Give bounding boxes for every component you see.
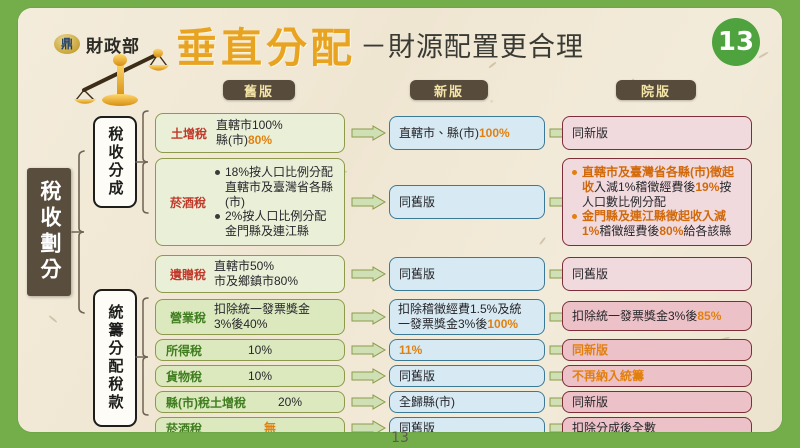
row-7-tax-label: 縣(市)稅土增稅 bbox=[162, 394, 278, 411]
row-2-old-bullets: 18%按人口比例分配直轄市及臺灣省各縣(市) 2%按人口比例分配金門縣及連江縣 bbox=[214, 165, 338, 238]
row-4-new-box: 扣除稽徵經費1.5%及統 一發票獎金3%後100% bbox=[389, 299, 545, 335]
footer-page-number: 13 bbox=[0, 430, 800, 446]
row-2-yuan-box: 直轄市及臺灣省各縣(市)徵起收入減1%稽徵經費後19%按人口數比例分配 金門縣及… bbox=[562, 158, 752, 246]
row-4-yuan-box: 扣除統一發票獎金3%後85% bbox=[562, 301, 752, 331]
row-6-yuan-box: 不再納入統籌 bbox=[562, 365, 752, 387]
row-3-yuan-box: 同舊版 bbox=[562, 257, 752, 291]
brace-group-sharing bbox=[134, 109, 154, 217]
row-4-new-text: 扣除稽徵經費1.5%及統 一發票獎金3%後100% bbox=[398, 302, 521, 332]
row-2-tax-label: 菸酒稅 bbox=[162, 194, 214, 211]
row-5-old-value: 10% bbox=[248, 343, 272, 358]
row-4-old-line-2: 3%後40% bbox=[214, 317, 267, 331]
paper-fleck bbox=[758, 51, 769, 58]
row-7-new-box: 全歸縣(市) bbox=[389, 391, 545, 413]
column-header-yuan: 院版 bbox=[616, 80, 696, 100]
row-2-yuan-bullet-2: 金門縣及連江縣徵起收入減1%稽徵經費後80%給各該縣 bbox=[582, 209, 743, 238]
slide-canvas: 鼎 財政部 垂直分配 －財源配置更合理 13 舊版 新版 院版 bbox=[18, 8, 782, 432]
row-2-new-box: 同舊版 bbox=[389, 185, 545, 219]
row-4-arrow-old-to-new bbox=[351, 309, 387, 325]
row-7-new-text: 全歸縣(市) bbox=[399, 395, 455, 410]
title-main: 垂直分配 bbox=[176, 14, 356, 74]
row-5-new-text: 11% bbox=[399, 343, 422, 358]
row-1-old-line-1: 直轄市100% bbox=[216, 118, 283, 132]
group-text: 稅收分成 bbox=[105, 126, 126, 198]
row-5-new-box: 11% bbox=[389, 339, 545, 361]
row-1-new-highlight: 100% bbox=[479, 126, 510, 140]
row-2-new-text: 同舊版 bbox=[399, 195, 435, 210]
title-subtitle: －財源配置更合理 bbox=[360, 25, 584, 64]
brace-group-pooled bbox=[134, 297, 154, 419]
group-label-revenue-sharing: 稅收分成 bbox=[93, 116, 137, 208]
row-2-old-bullet-1: 18%按人口比例分配直轄市及臺灣省各縣(市) bbox=[225, 165, 338, 209]
row-6-new-text: 同舊版 bbox=[399, 369, 435, 384]
paper-fleck bbox=[539, 237, 546, 245]
row-4-old-text: 扣除統一發票獎金 3%後40% bbox=[214, 302, 310, 332]
row-6-old-value: 10% bbox=[248, 369, 272, 384]
row-5-yuan-text: 同新版 bbox=[572, 343, 608, 358]
row-1-yuan-text: 同新版 bbox=[572, 126, 608, 141]
row-4-old-line-1: 扣除統一發票獎金 bbox=[214, 302, 310, 316]
row-2-yuan-bullet-2-head: 金門縣及連江縣徵起收入減1% bbox=[582, 209, 726, 238]
column-header-new: 新版 bbox=[410, 80, 488, 100]
row-3-yuan-text: 同舊版 bbox=[572, 267, 608, 282]
row-4-old-box: 營業稅 扣除統一發票獎金 3%後40% bbox=[155, 299, 345, 335]
row-2-yuan-bullet-2-hl: 80% bbox=[659, 224, 683, 238]
row-4-tax-label: 營業稅 bbox=[162, 309, 214, 326]
row-4-new-highlight: 100% bbox=[487, 317, 518, 331]
row-7-yuan-text: 同新版 bbox=[572, 395, 608, 410]
row-3-new-text: 同舊版 bbox=[399, 267, 435, 282]
row-3-old-line-1: 直轄市50% bbox=[214, 259, 274, 273]
row-4-new-line-1: 扣除稽徵經費1.5%及統 bbox=[398, 302, 521, 316]
page-title: 垂直分配 －財源配置更合理 bbox=[176, 14, 736, 74]
row-1-old-highlight: 80% bbox=[248, 133, 272, 147]
row-2-yuan-bullets: 直轄市及臺灣省各縣(市)徵起收入減1%稽徵經費後19%按人口數比例分配 金門縣及… bbox=[571, 165, 743, 238]
row-2-old-bullet-2: 2%按人口比例分配金門縣及連江縣 bbox=[225, 209, 338, 238]
row-6-new-box: 同舊版 bbox=[389, 365, 545, 387]
brace-spine bbox=[70, 148, 92, 316]
row-7-arrow-old-to-new bbox=[351, 394, 387, 410]
row-5-old-box: 所得稅 10% bbox=[155, 339, 345, 361]
spine-text: 稅收劃分 bbox=[34, 180, 64, 284]
row-3-new-box: 同舊版 bbox=[389, 257, 545, 291]
row-1-new-box: 直轄市、縣(市)100% bbox=[389, 116, 545, 150]
row-4-yuan-highlight: 85% bbox=[697, 309, 721, 323]
row-7-old-box: 縣(市)稅土增稅 20% bbox=[155, 391, 345, 413]
row-2-arrow-old-to-new bbox=[351, 194, 387, 210]
page-badge: 13 bbox=[712, 18, 760, 66]
row-2-yuan-bullet-1-hl: 19% bbox=[695, 180, 719, 194]
row-3-old-text: 直轄市50% 市及鄉鎮市80% bbox=[214, 259, 298, 289]
row-6-tax-label: 貨物稅 bbox=[162, 368, 248, 385]
row-3-old-line-2: 市及鄉鎮市80% bbox=[214, 274, 298, 288]
row-5-arrow-old-to-new bbox=[351, 342, 387, 358]
row-1-yuan-box: 同新版 bbox=[562, 116, 752, 150]
row-6-yuan-text: 不再納入統籌 bbox=[572, 369, 644, 384]
row-3-tax-label: 遺贈稅 bbox=[162, 266, 214, 283]
row-2-yuan-bullet-1: 直轄市及臺灣省各縣(市)徵起收入減1%稽徵經費後19%按人口數比例分配 bbox=[582, 165, 743, 209]
row-4-yuan-text: 扣除統一發票獎金3%後85% bbox=[572, 309, 721, 324]
group-text: 統籌分配稅款 bbox=[105, 304, 126, 412]
row-1-tax-label: 土增稅 bbox=[162, 125, 216, 142]
row-7-yuan-box: 同新版 bbox=[562, 391, 752, 413]
balance-scale-icon bbox=[72, 44, 176, 106]
row-1-new-text: 直轄市、縣(市)100% bbox=[399, 126, 510, 141]
row-1-old-box: 土增稅 直轄市100% 縣(市)80% bbox=[155, 113, 345, 153]
row-5-tax-label: 所得稅 bbox=[162, 342, 248, 359]
row-7-old-value: 20% bbox=[278, 395, 302, 410]
row-3-arrow-old-to-new bbox=[351, 266, 387, 282]
row-1-old-text: 直轄市100% 縣(市)80% bbox=[216, 118, 283, 148]
row-6-arrow-old-to-new bbox=[351, 368, 387, 384]
spine-label-tax-division: 稅收劃分 bbox=[27, 168, 71, 296]
column-header-old: 舊版 bbox=[223, 80, 295, 100]
row-2-old-box: 菸酒稅 18%按人口比例分配直轄市及臺灣省各縣(市) 2%按人口比例分配金門縣及… bbox=[155, 158, 345, 246]
paper-fleck bbox=[49, 315, 58, 323]
row-6-old-box: 貨物稅 10% bbox=[155, 365, 345, 387]
ministry-logo: 鼎 財政部 bbox=[44, 22, 174, 94]
group-label-pooled-allocation: 統籌分配稅款 bbox=[93, 289, 137, 427]
row-5-yuan-box: 同新版 bbox=[562, 339, 752, 361]
row-1-arrow-old-to-new bbox=[351, 125, 387, 141]
row-3-old-box: 遺贈稅 直轄市50% 市及鄉鎮市80% bbox=[155, 255, 345, 293]
